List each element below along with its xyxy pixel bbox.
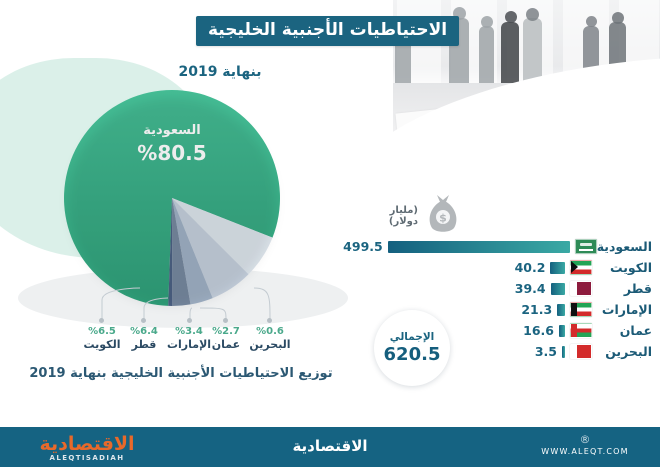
leader-dot (187, 318, 192, 323)
bar-fill (557, 304, 565, 316)
photo-person-head (481, 16, 493, 28)
photo-person-head (505, 11, 517, 23)
photo-person-head (526, 8, 539, 21)
page-title-text: الاحتياطيات الأجنبية الخليجية (208, 20, 447, 40)
bar-fill (562, 346, 565, 358)
total-value: 620.5 (384, 344, 441, 366)
total-label: الإجمالي (390, 330, 435, 344)
photo-wave-mask-secondary (318, 96, 660, 216)
pie-label-bahrain: %0.6 البحرين (242, 325, 298, 352)
bar-value: 499.5 (343, 239, 383, 254)
pie-chart: السعودية%80.5 (62, 88, 282, 308)
pie-caption: توزيع الاحتياطيات الأجنبية الخليجية بنها… (26, 366, 336, 381)
saudi-arabia-flag (575, 239, 597, 254)
bar-value: 16.6 (523, 323, 554, 338)
total-circle: الإجمالي 620.5 (374, 310, 450, 386)
bar-value: 40.2 (515, 260, 546, 275)
bar-row: 39.4قطر (352, 278, 652, 299)
uae-flag (570, 302, 592, 317)
kuwait-flag (570, 260, 592, 275)
bar-country-name: البحرين (592, 344, 652, 359)
bahrain-flag (570, 344, 592, 359)
qatar-flag (570, 281, 592, 296)
bar-fill (559, 325, 565, 337)
footer-logo-latin: ALEQTISADIAH (22, 454, 152, 463)
bar-row: 40.2الكويت (352, 257, 652, 278)
pie-label-name: البحرين (242, 338, 298, 352)
oman-flag (570, 323, 592, 338)
footer-website[interactable]: ® WWW.ALEQT.COM (526, 433, 644, 458)
infographic-root: الاحتياطيات الأجنبية الخليجية بنهاية 201… (0, 0, 660, 467)
bar-country-name: الكويت (592, 260, 652, 275)
svg-text:$: $ (439, 212, 447, 225)
bar-chart-unit: (مليار دولار) (360, 205, 418, 227)
bar-fill (551, 283, 565, 295)
bar-fill (388, 241, 570, 253)
footer: الاقتصادية ALEQTISADIAH الاقتصادية ® WWW… (0, 427, 660, 467)
registered-mark-icon: ® (526, 433, 644, 446)
bar-country-name: عمان (592, 323, 652, 338)
bar-value: 39.4 (515, 281, 546, 296)
leader-dot (223, 318, 228, 323)
bar-fill (550, 262, 565, 274)
photo-person-head (586, 16, 597, 27)
bar-country-name: قطر (592, 281, 652, 296)
bar-country-name: السعودية (597, 239, 652, 254)
leader-dot (141, 318, 146, 323)
bar-row: 499.5السعودية (352, 236, 652, 257)
page-title: الاحتياطيات الأجنبية الخليجية (196, 16, 459, 46)
photo-person-head (612, 12, 624, 24)
footer-url: WWW.ALEQT.COM (526, 446, 644, 458)
pie-shadow (68, 98, 276, 306)
pie-leader-lines (40, 286, 300, 328)
bar-value: 3.5 (535, 344, 557, 359)
money-bag-icon: $ (424, 192, 462, 234)
leader-dot (267, 318, 272, 323)
bar-country-name: الإمارات (592, 302, 652, 317)
bar-value: 21.3 (521, 302, 552, 317)
page-subtitle: بنهاية 2019 (0, 64, 440, 80)
leader-dot (99, 318, 104, 323)
pie-label-pct: %0.6 (242, 325, 298, 338)
